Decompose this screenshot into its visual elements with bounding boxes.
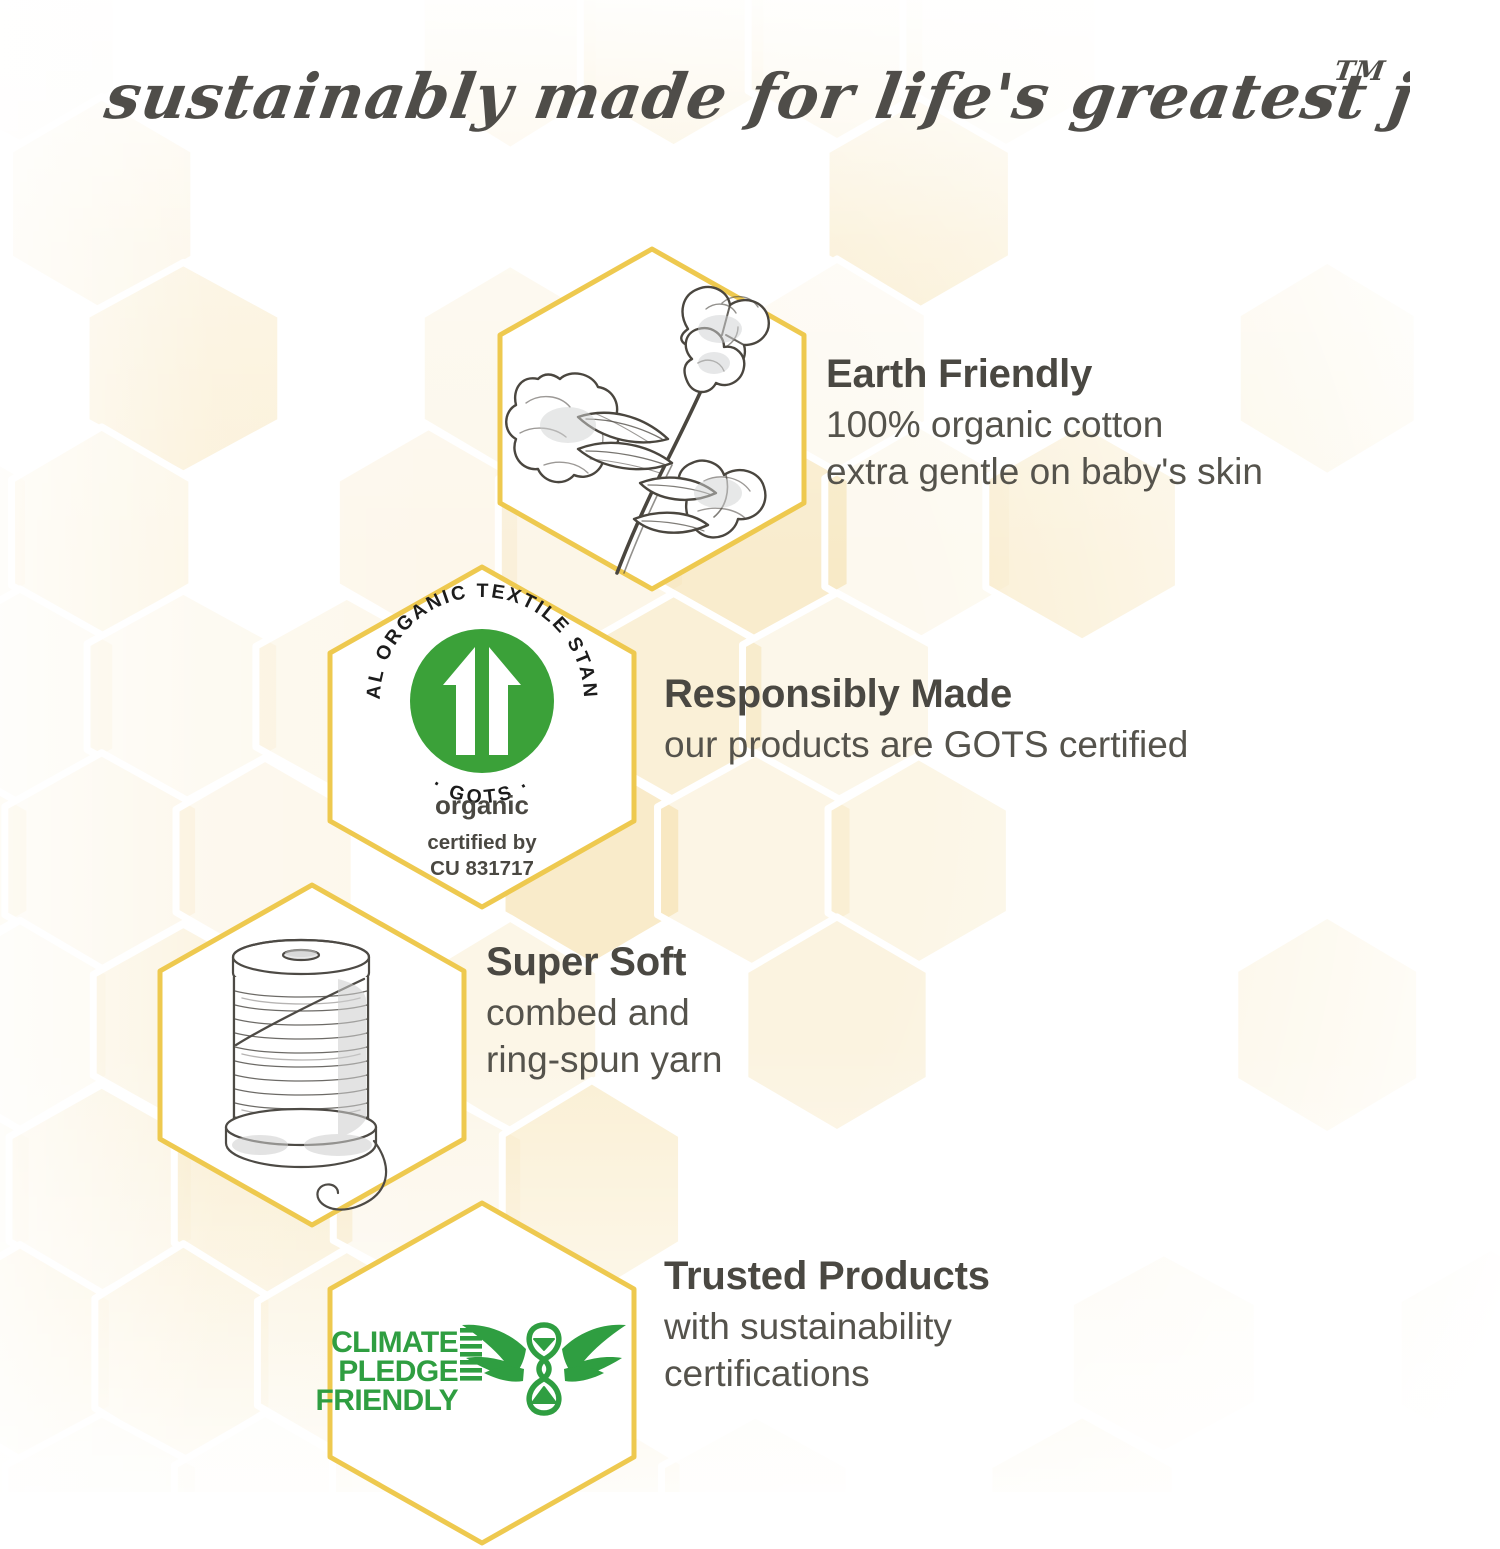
climate-pledge-line3: FRIENDLY [316,1384,459,1417]
headline-text: sustainably made for life's greatest joy [99,59,1410,133]
feature-text-super-soft: Super Soft combed and ring-spun yarn [486,940,723,1084]
feature-title: Responsibly Made [664,672,1188,717]
headline-trademark: TM [1332,55,1388,87]
feature-title: Super Soft [486,940,723,985]
hexagon-card-responsibly-made: GLOBAL ORGANIC TEXTILE STANDARD · GOTS ·… [312,561,652,913]
feature-line: our products are GOTS certified [664,721,1188,768]
feature-title: Trusted Products [664,1254,990,1299]
gots-label-organic: organic [435,790,529,820]
gots-green-disc [410,629,554,773]
feature-line: certifications [664,1350,990,1397]
feature-line: extra gentle on baby's skin [826,448,1263,495]
feature-line: 100% organic cotton [826,401,1263,448]
feature-line: ring-spun yarn [486,1036,723,1083]
feature-line: with sustainability [664,1303,990,1350]
hexagon-card-earth-friendly [482,243,822,595]
feature-line: combed and [486,989,723,1036]
feature-text-earth-friendly: Earth Friendly 100% organic cotton extra… [826,352,1263,496]
hexagon-card-trusted-products: CLIMATE PLEDGE FRIENDLY [312,1197,652,1549]
gots-label-certified-by: certified by [427,831,537,854]
feature-text-trusted-products: Trusted Products with sustainability cer… [664,1254,990,1398]
headline: sustainably made for life's greatest joy… [0,42,1500,152]
gots-label-code: CU 831717 [430,857,534,880]
feature-text-responsibly-made: Responsibly Made our products are GOTS c… [664,672,1188,768]
hexagon-card-super-soft [142,879,482,1231]
feature-title: Earth Friendly [826,352,1263,397]
infographic-stage: sustainably made for life's greatest joy… [0,0,1500,1492]
